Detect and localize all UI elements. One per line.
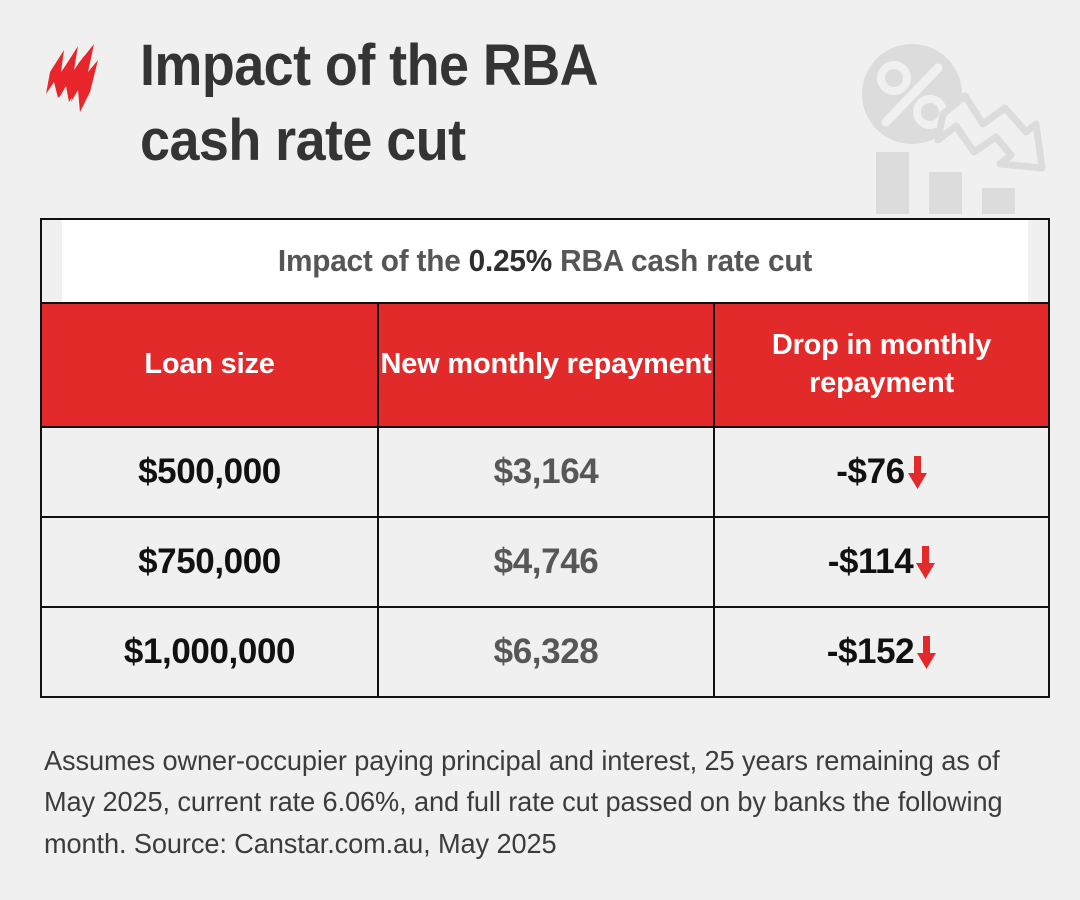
table-row: $1,000,000 $6,328 -$152 [41,607,1049,697]
cell-loan-size: $750,000 [41,517,378,607]
declining-arrow-icon [938,96,1042,168]
arrow-down-icon [916,546,935,579]
page-title-line-2: cash rate cut [140,108,466,173]
footnote: Assumes owner-occupier paying principal … [44,740,1004,864]
rate-cut-table: Impact of the 0.25% RBA cash rate cut Lo… [40,218,1050,698]
cell-new-repayment: $3,164 [378,427,714,517]
cell-drop-repayment: -$152 [714,607,1049,697]
arrow-down-icon [908,456,927,489]
page-title-line-1: Impact of the RBA [140,33,598,98]
infographic-page: Impact of the RBA cash rate cut [0,0,1080,900]
arrow-down-icon [917,636,936,669]
table-caption-row: Impact of the 0.25% RBA cash rate cut [41,219,1049,303]
table-caption-highlight: 0.25% [469,243,552,278]
table-caption-prefix: Impact of the [278,243,469,278]
cell-new-repayment: $6,328 [378,607,714,697]
column-header-new-repayment: New monthly repayment [378,303,714,427]
drop-value-group: -$76 [836,452,926,492]
table-header-row: Loan size New monthly repayment Drop in … [41,303,1049,427]
table-caption-suffix: RBA cash rate cut [552,243,812,278]
table-caption: Impact of the 0.25% RBA cash rate cut [61,219,1029,303]
sbs-logo-icon [40,42,106,116]
header: Impact of the RBA cash rate cut [40,28,1050,198]
drop-amount: -$76 [836,452,904,492]
column-header-loan-size: Loan size [41,303,378,427]
cell-loan-size: $1,000,000 [41,607,378,697]
drop-amount: -$114 [828,542,914,582]
table-row: $500,000 $3,164 -$76 [41,427,1049,517]
table-row: $750,000 $4,746 -$114 [41,517,1049,607]
cell-loan-size: $500,000 [41,427,378,517]
page-title: Impact of the RBA cash rate cut [140,28,791,179]
drop-value-group: -$114 [828,542,936,582]
cell-drop-repayment: -$76 [714,427,1049,517]
column-header-drop-repayment: Drop in monthly repayment [714,303,1049,427]
decorative-graphic [850,36,1050,216]
cell-new-repayment: $4,746 [378,517,714,607]
drop-amount: -$152 [827,632,915,672]
drop-value-group: -$152 [827,632,937,672]
rate-cut-table-container: Impact of the 0.25% RBA cash rate cut Lo… [40,218,1048,698]
cell-drop-repayment: -$114 [714,517,1049,607]
declining-bars-icon [876,152,1015,214]
